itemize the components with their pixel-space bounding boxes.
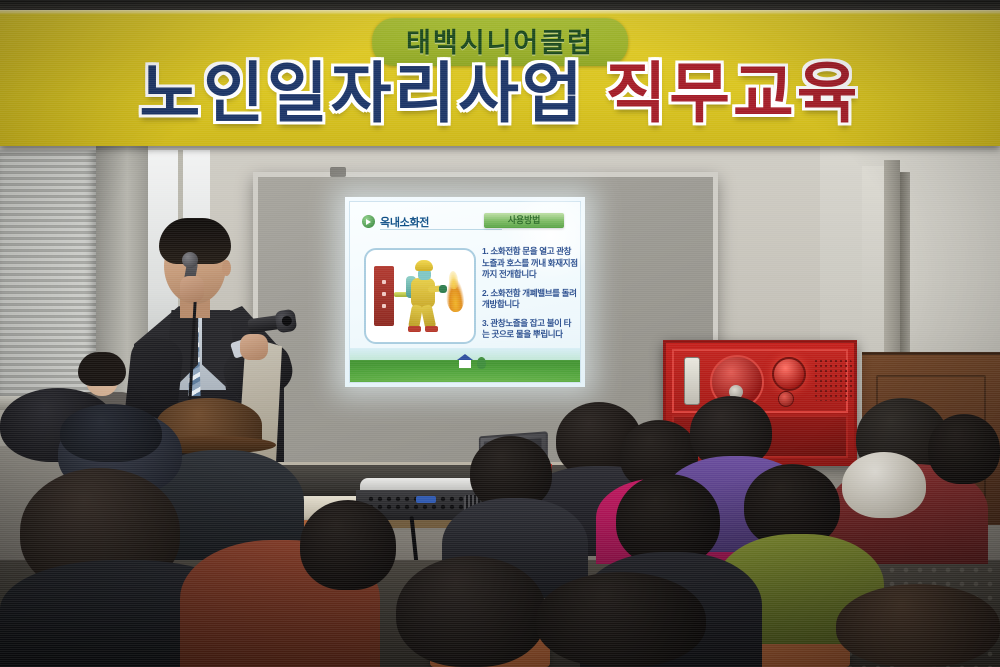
event-banner: 태백시니어클럽 노인일자리사업직무교육 — [0, 10, 1000, 146]
door-jamb-inner — [900, 172, 910, 356]
slide-steps-list: 1. 소화전함 문을 열고 관창노즐과 호스를 꺼내 화재지점까지 전개합니다 … — [482, 246, 578, 348]
photo-scene: 태백시니어클럽 노인일자리사업직무교육 옥내소화전 사용방법 — [0, 0, 1000, 667]
cabinet-upper-panel — [672, 349, 848, 413]
firefighter-icon — [406, 260, 440, 332]
banner-title-accent: 직무교육 — [606, 56, 861, 130]
audience-head-front — [836, 584, 1000, 667]
green-arrow-icon — [362, 215, 375, 228]
audience-head-front — [536, 572, 706, 667]
slide-section-tab-label: 사용방법 — [484, 213, 564, 228]
flame-icon — [445, 277, 465, 312]
slide-step-3: 3. 관창노즐을 잡고 불이 타는 곳으로 물을 뿌립니다 — [482, 318, 578, 341]
microphone-head — [182, 252, 198, 268]
hydrant-cabinet-icon — [374, 266, 394, 326]
banner-title-main: 노인일자리사업 — [140, 56, 586, 130]
slide-footer-art — [350, 348, 580, 382]
projector-vga-port — [416, 496, 436, 503]
audience-head-grey-perm — [842, 452, 926, 518]
speaker-grille-icon — [814, 359, 852, 401]
banner-headline: 노인일자리사업직무교육 — [0, 60, 1000, 126]
slide-step-2: 2. 소화전함 개폐밸브를 돌려 개방합니다 — [482, 288, 578, 311]
slide-inner-frame: 옥내소화전 사용방법 — [349, 201, 581, 383]
audience-head — [300, 500, 396, 590]
audience-cap — [60, 404, 162, 462]
club-name-text: 태백시니어클럽 — [406, 28, 594, 58]
presenter-ear — [222, 260, 231, 276]
slide-illustration-box — [364, 248, 476, 344]
nozzle-tip — [274, 309, 297, 334]
pressure-gauge-strip — [684, 357, 700, 405]
projected-slide: 옥내소화전 사용방법 — [345, 197, 585, 387]
firefighter-helmet — [415, 260, 433, 271]
slide-title: 옥내소화전 — [380, 214, 429, 230]
firefighter-boot-left — [408, 326, 421, 332]
slide-section-tab: 사용방법 — [484, 213, 564, 228]
board-clip — [330, 167, 346, 177]
slide-header: 옥내소화전 사용방법 — [362, 214, 568, 230]
firefighter-body — [411, 278, 435, 308]
fire-hose-nozzle — [247, 309, 298, 337]
alarm-indicator-lamp — [772, 357, 806, 391]
firefighter-boot-right — [425, 326, 438, 332]
presenter-hand-right — [240, 334, 268, 360]
alarm-push-button — [778, 391, 794, 407]
tree-icon — [477, 357, 486, 369]
slide-step-1: 1. 소화전함 문을 열고 관창노즐과 호스를 꺼내 화재지점까지 전개합니다 — [482, 246, 578, 281]
door-jamb — [884, 160, 900, 356]
slide-title-rule — [380, 229, 502, 230]
presenter-hand-left — [180, 276, 204, 302]
audience-head-front — [396, 556, 546, 667]
audience-head — [928, 414, 1000, 484]
house-icon — [459, 359, 471, 368]
